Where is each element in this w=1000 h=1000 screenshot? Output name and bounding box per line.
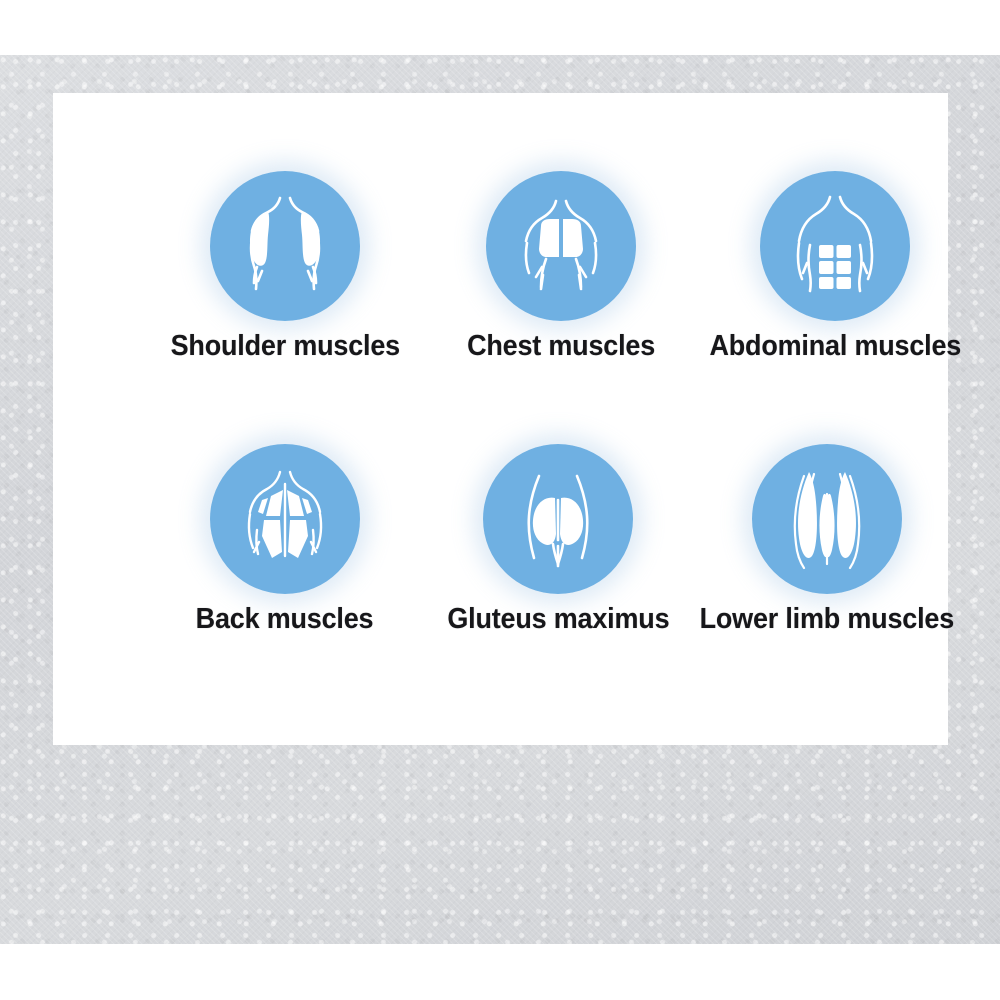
white-content-card: Shoulder muscles <box>53 93 948 745</box>
muscle-group-shoulder[interactable]: Shoulder muscles <box>156 170 414 361</box>
product-feature-graphic: Shoulder muscles <box>0 0 1000 1000</box>
back-icon-wrap <box>209 443 361 595</box>
muscle-group-label: Abdominal muscles <box>709 332 961 361</box>
gluteus-icon-wrap <box>482 443 634 595</box>
muscle-group-label: Gluteus maximus <box>447 605 669 634</box>
muscle-group-grid: Shoulder muscles <box>53 93 948 745</box>
muscle-group-label: Chest muscles <box>467 332 655 361</box>
lower-limb-icon-wrap <box>751 443 903 595</box>
chest-muscles-icon <box>486 171 636 321</box>
muscle-group-gluteus[interactable]: Gluteus maximus <box>429 443 687 634</box>
gluteus-maximus-icon <box>483 444 633 594</box>
chest-icon-wrap <box>485 170 637 322</box>
abdominal-muscles-icon <box>760 171 910 321</box>
shoulder-muscles-icon <box>210 171 360 321</box>
abdominal-icon-wrap <box>759 170 911 322</box>
muscle-group-label: Back muscles <box>196 605 374 634</box>
muscle-group-chest[interactable]: Chest muscles <box>432 170 690 361</box>
shoulder-icon-wrap <box>209 170 361 322</box>
back-muscles-icon <box>210 444 360 594</box>
muscle-group-label: Lower limb muscles <box>700 605 954 634</box>
lower-limb-muscles-icon <box>752 444 902 594</box>
muscle-group-back[interactable]: Back muscles <box>156 443 414 634</box>
muscle-group-lower-limb[interactable]: Lower limb muscles <box>698 443 956 634</box>
muscle-group-abdominal[interactable]: Abdominal muscles <box>706 170 964 361</box>
muscle-group-label: Shoulder muscles <box>170 332 399 361</box>
